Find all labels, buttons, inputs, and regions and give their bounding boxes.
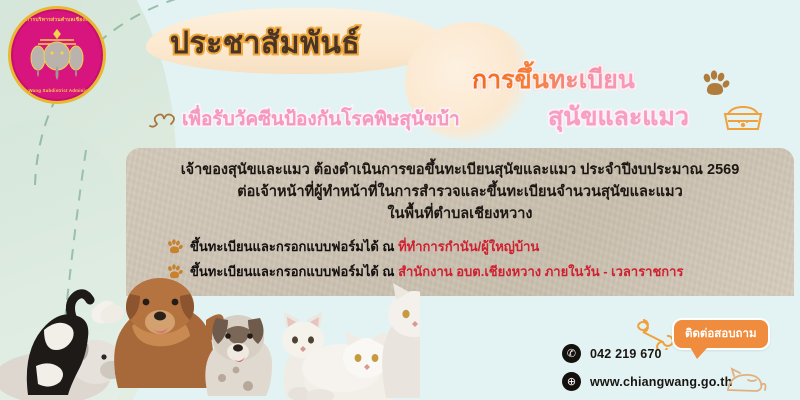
white-persian-cat bbox=[382, 283, 420, 398]
animal-photo-band bbox=[0, 210, 420, 400]
seal-ring-text-thai: องค์การบริหารส่วนตำบลเชียงหวาง bbox=[11, 16, 103, 24]
paw-print-icon bbox=[700, 70, 730, 98]
sleeping-cat-icon bbox=[722, 366, 768, 396]
globe-icon: ⊕ bbox=[562, 372, 581, 391]
body-line-2: ต่อเจ้าหน้าที่ผู้ทำหน้าที่ในการสำรวจและข… bbox=[126, 182, 794, 204]
contact-website-row[interactable]: ⊕ www.chiangwang.go.th bbox=[562, 372, 732, 391]
heart-swirl-icon bbox=[148, 106, 182, 130]
heading-dogs-cats-fill: สุนัขและแมว bbox=[548, 97, 689, 137]
heading-registration-fill: การขึ้นทะเบียน bbox=[472, 60, 635, 100]
contact-block: ✆ 042 219 670 ⊕ www.chiangwang.go.th bbox=[562, 344, 732, 400]
subtitle-rabies-fill: เพื่อรับวัคซีนป้องกันโรคพิษสุนัขบ้า bbox=[182, 104, 460, 134]
website-url: www.chiangwang.go.th bbox=[590, 375, 732, 389]
three-headed-elephant-icon bbox=[26, 26, 88, 84]
spotted-dog bbox=[205, 315, 272, 396]
contact-phone-row[interactable]: ✆ 042 219 670 bbox=[562, 344, 732, 363]
pet-food-bowl-icon bbox=[722, 100, 764, 132]
seal-ring-text-english: Chiang Wang Subdistrict Administrative O… bbox=[11, 88, 103, 93]
bullet-2-red-text: สำนักงาน อบต.เชียงหวาง ภายในวัน - เวลารา… bbox=[398, 264, 683, 279]
page-title: ประชาสัมพันธ์ bbox=[170, 20, 360, 67]
organization-seal: องค์การบริหารส่วนตำบลเชียงหวาง Chiang Wa… bbox=[8, 6, 106, 104]
body-line-1: เจ้าของสุนัขและแมว ต้องดำเนินการขอขึ้นทะ… bbox=[126, 160, 794, 182]
poster-canvas: องค์การบริหารส่วนตำบลเชียงหวาง Chiang Wa… bbox=[0, 0, 800, 400]
phone-number: 042 219 670 bbox=[590, 347, 662, 361]
phone-icon: ✆ bbox=[562, 344, 581, 363]
